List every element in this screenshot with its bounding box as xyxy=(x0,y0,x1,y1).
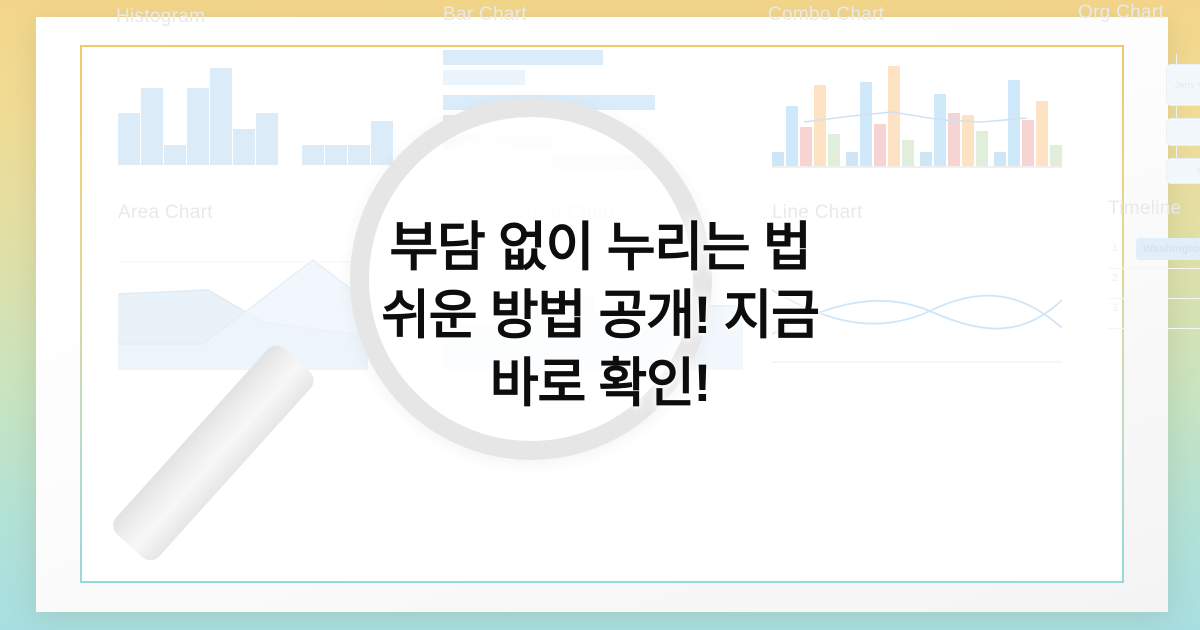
panel-title-bar-chart: Bar Chart xyxy=(443,4,527,26)
headline-line-1: 부담 없이 누리는 법 xyxy=(0,214,1200,282)
histogram-bar xyxy=(118,113,140,165)
headline-line-2: 쉬운 방법 공개! 지금 xyxy=(0,282,1200,350)
bar-chart-bar xyxy=(443,50,603,65)
histogram-bar xyxy=(302,145,324,165)
bar-chart-bar xyxy=(443,115,471,130)
headline: 부담 없이 누리는 법 쉬운 방법 공개! 지금 바로 확인! xyxy=(0,214,1200,417)
bar-chart xyxy=(443,50,743,160)
bar-chart-bar xyxy=(443,95,655,110)
org-connector xyxy=(1176,54,1177,64)
histogram-bar xyxy=(371,121,393,165)
bar-chart-bar xyxy=(443,70,525,85)
panel-title-combo-chart: Combo Chart xyxy=(768,4,884,26)
org-node: Kent xyxy=(1166,118,1200,146)
org-node: Cleaners xyxy=(1166,158,1200,184)
histogram-bar xyxy=(325,145,347,165)
combo-chart xyxy=(772,50,1062,166)
histogram-bar xyxy=(210,68,232,165)
bar-chart-bar xyxy=(443,135,553,150)
org-connector xyxy=(1176,146,1177,158)
histogram-bar xyxy=(164,145,186,165)
headline-line-3: 바로 확인! xyxy=(0,350,1200,418)
combo-axis xyxy=(772,166,1062,168)
combo-overlay-line xyxy=(772,50,1062,166)
panel-title-org-chart: Org Chart xyxy=(1078,2,1164,24)
org-node: Jerry Vice President xyxy=(1166,64,1200,106)
panel-title-histogram: Histogram xyxy=(116,6,205,28)
org-chart: Jerry Vice President Kent Cleaners xyxy=(1166,54,1200,194)
org-connector xyxy=(1176,106,1177,118)
histogram-chart xyxy=(118,55,318,165)
bar-chart-bar xyxy=(443,155,648,170)
histogram-bar xyxy=(187,88,209,165)
histogram-bar xyxy=(256,113,278,165)
histogram-bar xyxy=(141,88,163,165)
histogram-bar xyxy=(348,145,370,165)
histogram-bar xyxy=(233,129,255,165)
